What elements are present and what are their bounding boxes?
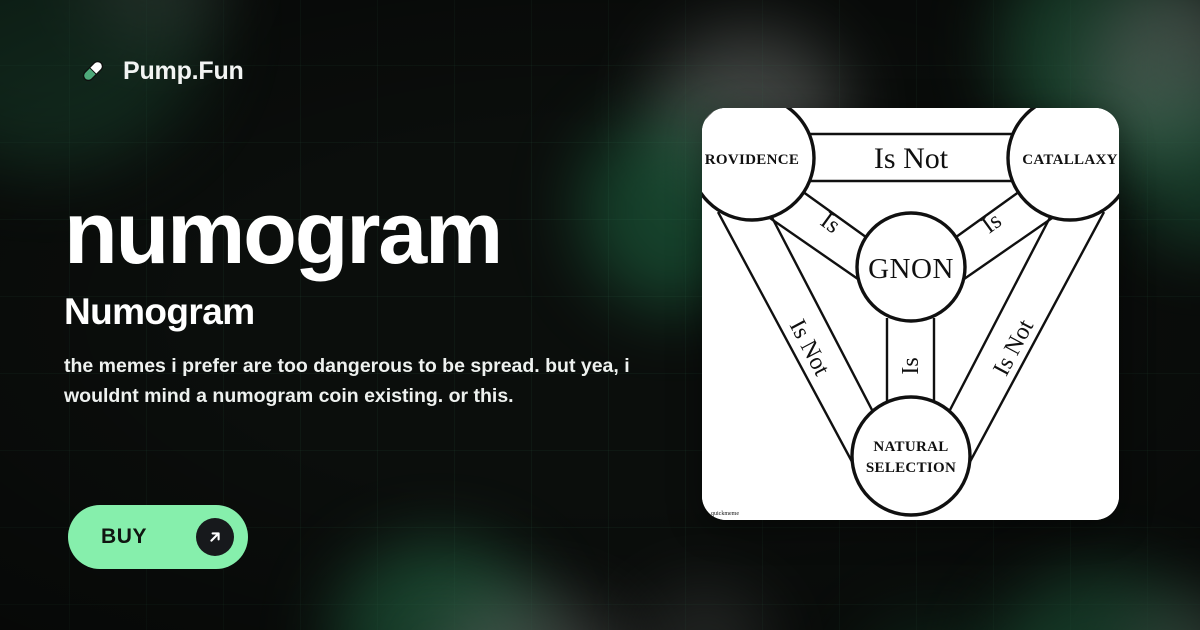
node-label-gnon: GNON [868,253,954,285]
brand-name: Pump.Fun [123,57,244,86]
arrow-up-right-icon [196,518,234,556]
edge-label-is-not-top: Is Not [874,142,949,175]
numogram-diagram: ROVIDENCE CATALLAXY NATURAL SELECTION GN… [702,108,1119,520]
edge-label-is-vertical: Is [898,357,924,374]
coin-ticker: numogram [64,188,664,278]
pill-capsule-icon [78,56,108,86]
diagram-watermark: quickmeme [711,511,739,517]
coin-image-card[interactable]: ROVIDENCE CATALLAXY NATURAL SELECTION GN… [702,108,1119,520]
og-card-canvas: Pump.Fun numogram Numogram the memes i p… [0,0,1200,630]
node-natural-selection [852,397,970,515]
node-label-selection: SELECTION [866,460,956,476]
buy-button-label: BUY [101,525,196,549]
node-label-natural: NATURAL [873,439,948,455]
coin-name: Numogram [64,291,664,333]
coin-info-column: numogram Numogram the memes i prefer are… [64,188,664,411]
node-label-catallaxy: CATALLAXY [1022,152,1117,168]
coin-description: the memes i prefer are too dangerous to … [64,351,650,411]
brand-header: Pump.Fun [78,56,244,86]
node-label-providence: ROVIDENCE [705,152,799,168]
buy-button[interactable]: BUY [68,505,248,569]
